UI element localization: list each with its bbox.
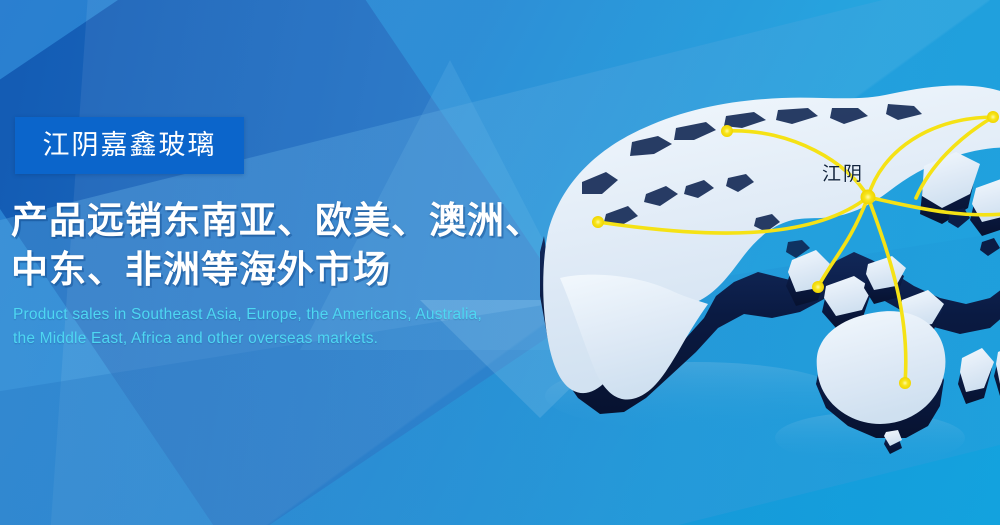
subtitle-line-2: the Middle East, Africa and other overse… [13,327,573,351]
landmass-new-zealand [958,344,1000,404]
node-americas [592,216,604,228]
brand-badge-label: 江阴嘉鑫玻璃 [43,132,217,159]
brand-badge: 江阴嘉鑫玻璃 [15,117,244,174]
node-europe [721,125,733,137]
node-southeast-asia [812,281,824,293]
node-northeast [987,111,999,123]
hub-node-jiangyin [861,190,876,205]
headline-line-2: 中东、非洲等海外市场 [11,245,556,294]
copy-block: 江阴嘉鑫玻璃 产品远销东南亚、欧美、澳洲、 中东、非洲等海外市场 Product… [0,0,560,525]
subtitle-line-1: Product sales in Southeast Asia, Europe,… [13,303,573,327]
headline: 产品远销东南亚、欧美、澳洲、 中东、非洲等海外市场 [11,196,556,294]
node-australia [899,377,911,389]
headline-line-1: 产品远销东南亚、欧美、澳洲、 [11,196,556,245]
promo-banner: 江阴 江阴嘉鑫玻璃 产品远销东南亚、欧美、澳洲、 中东、非洲等海外市场 Prod… [0,0,1000,525]
map-hub-label: 江阴 [822,165,864,184]
world-map-graphic [520,46,1000,516]
subtitle: Product sales in Southeast Asia, Europe,… [13,303,573,351]
